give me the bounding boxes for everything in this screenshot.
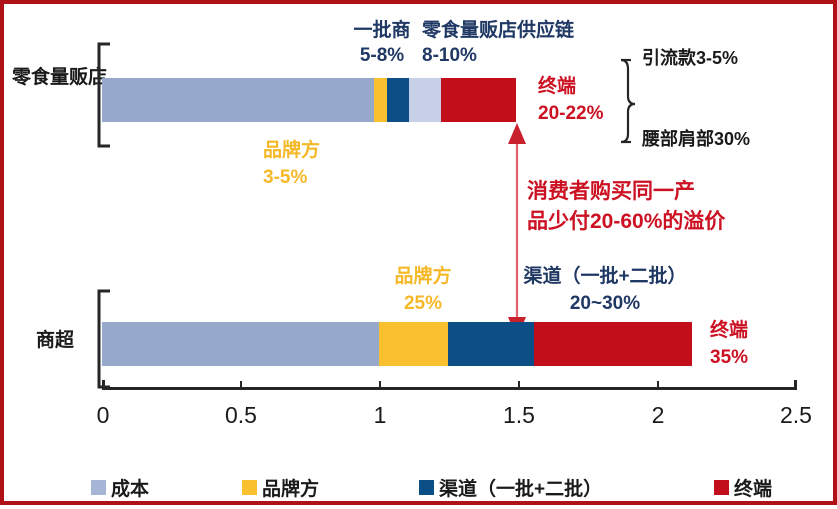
annotation-premium-note-line2: 品少付20-60%的溢价 — [527, 207, 725, 237]
annotation-brand-top-title: 品牌方 — [263, 140, 320, 162]
annotation-premium-note-line1: 消费者购买同一产 — [527, 177, 725, 207]
legend-label-brand: 品牌方 — [262, 474, 319, 501]
category-label-bottom: 商超 — [20, 329, 90, 353]
annotation-brand-top-value: 3-5% — [263, 167, 320, 189]
category-label-bottom-text: 商超 — [20, 329, 90, 353]
annotation-yipishang-title: 一批商 — [340, 20, 424, 42]
annotation-yipishang: 一批商 5-8% — [340, 20, 424, 68]
legend-swatch-channel — [419, 480, 434, 495]
bar-bottom-seg-brand — [379, 322, 448, 366]
legend-swatch-brand — [242, 480, 257, 495]
annotation-brand-top: 品牌方 3-5% — [263, 140, 320, 190]
bar-top-seg-supplychain — [409, 78, 441, 122]
x-tick-label-0.5: 0.5 — [221, 402, 261, 429]
annotation-brand-bottom-title: 品牌方 — [387, 266, 459, 288]
annotation-terminal-top-value: 20-22% — [538, 103, 604, 125]
annotation-brand-bottom: 品牌方 25% — [387, 266, 459, 316]
legend-label-cost: 成本 — [111, 474, 149, 501]
legend-label-channel: 渠道（一批+二批） — [439, 474, 602, 501]
annotation-channel-bottom-value: 20~30% — [509, 293, 701, 315]
x-tick-0 — [102, 381, 104, 388]
x-tick-label-0: 0 — [83, 402, 123, 429]
annotation-terminal-bottom-title: 终端 — [710, 320, 748, 342]
x-tick-1.5 — [518, 381, 520, 388]
x-tick-1 — [379, 381, 381, 388]
annotation-channel-bottom: 渠道（一批+二批） 20~30% — [509, 266, 701, 316]
bar-bottom — [102, 322, 692, 366]
legend-item-channel[interactable]: 渠道（一批+二批） — [419, 474, 602, 501]
bar-bottom-seg-terminal — [534, 322, 692, 366]
annotation-supplychain: 零食量贩店供应链 8-10% — [422, 20, 574, 68]
legend-item-cost[interactable]: 成本 — [91, 474, 149, 501]
annotation-supplychain-value: 8-10% — [422, 45, 574, 67]
legend-label-terminal: 终端 — [734, 474, 772, 501]
bar-top-seg-cost — [102, 78, 374, 122]
annotation-channel-bottom-title: 渠道（一批+二批） — [509, 266, 701, 288]
bar-bottom-seg-channel — [448, 322, 534, 366]
x-tick-2 — [657, 381, 659, 388]
x-tick-label-1: 1 — [360, 402, 400, 429]
annotation-yipishang-value: 5-8% — [340, 45, 424, 67]
category-label-top-text: 零食量贩店 — [12, 66, 94, 90]
bar-top — [102, 78, 521, 122]
x-tick-0.5 — [240, 381, 242, 388]
annotation-brand-bottom-value: 25% — [387, 293, 459, 315]
x-tick-label-2: 2 — [638, 402, 678, 429]
bar-top-seg-terminal — [441, 78, 516, 122]
bar-top-seg-brand — [374, 78, 387, 122]
x-tick-2.5 — [795, 381, 797, 388]
x-tick-label-2.5: 2.5 — [776, 402, 816, 429]
annotation-terminal-bottom-value: 35% — [710, 347, 748, 369]
legend-item-brand[interactable]: 品牌方 — [242, 474, 319, 501]
annotation-premium-note: 消费者购买同一产 品少付20-60%的溢价 — [527, 177, 725, 238]
annotation-brace-top: 引流款3-5% — [642, 48, 738, 69]
bar-top-seg-channel — [387, 78, 409, 122]
annotation-supplychain-title: 零食量贩店供应链 — [422, 20, 574, 42]
x-axis-line — [102, 387, 797, 390]
legend-item-terminal[interactable]: 终端 — [714, 474, 772, 501]
legend-swatch-terminal — [714, 480, 729, 495]
chart-frame: 零食量贩店 一批商 5-8% 零食量贩店供应链 8-10% 品牌方 — [0, 0, 837, 505]
legend-swatch-cost — [91, 480, 106, 495]
category-label-top: 零食量贩店 — [12, 66, 94, 90]
x-tick-label-1.5: 1.5 — [499, 402, 539, 429]
annotation-brace-bottom-text: 腰部肩部30% — [642, 129, 750, 149]
annotation-terminal-top: 终端 20-22% — [538, 76, 604, 126]
annotation-terminal-top-title: 终端 — [538, 76, 604, 98]
bar-bottom-seg-cost — [102, 322, 379, 366]
annotation-brace-bottom: 腰部肩部30% — [642, 129, 750, 150]
annotation-terminal-bottom: 终端 35% — [710, 320, 748, 370]
annotation-brace-top-text: 引流款3-5% — [642, 48, 738, 68]
